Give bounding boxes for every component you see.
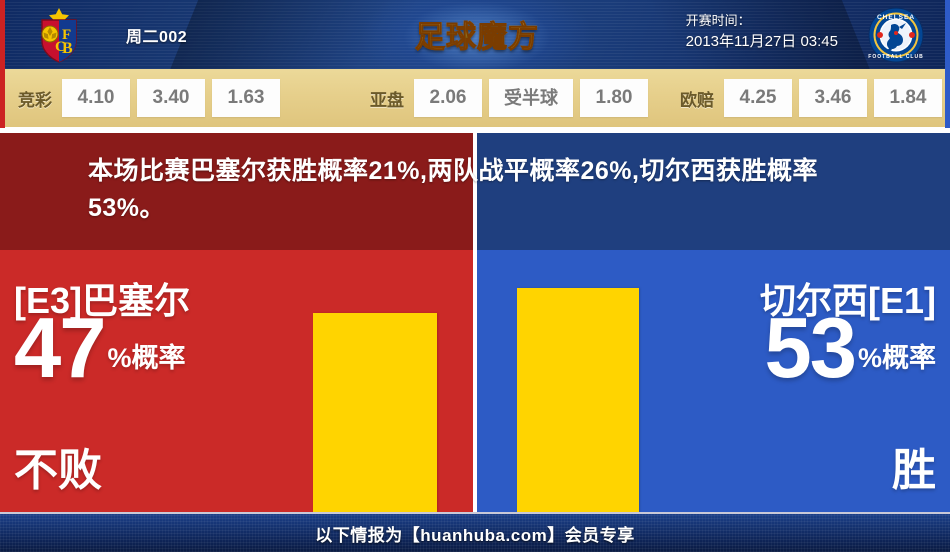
- odds-group-label: 竞彩: [18, 86, 52, 111]
- match-number-label: 周二002: [126, 23, 187, 47]
- svg-text:C: C: [55, 39, 66, 55]
- chart-center-divider: [473, 250, 477, 512]
- odds-group-label: 亚盘: [370, 86, 404, 111]
- header-bar: F B C 周二002 足球魔方 开赛时间： 2013年11月27日 03:45: [0, 0, 950, 69]
- chelsea-fc-crest-icon: CHELSEA FOOTBALL CLUB: [866, 6, 926, 64]
- bar-away-probability: [517, 288, 639, 512]
- svg-text:FOOTBALL CLUB: FOOTBALL CLUB: [868, 54, 923, 60]
- home-percent-value: 47: [14, 310, 105, 388]
- bar-home-probability: [313, 313, 437, 512]
- svg-text:CHELSEA: CHELSEA: [877, 14, 915, 21]
- odds-cell-away-win[interactable]: 1.63: [212, 79, 280, 117]
- kickoff-time: 2013年11月27日 03:45: [686, 31, 838, 53]
- footer-bar: 以下情报为【huanhuba.com】会员专享: [0, 514, 950, 552]
- home-percent-suffix: %概率: [105, 336, 186, 388]
- odds-cell-home-win[interactable]: 4.10: [62, 79, 130, 117]
- fc-basel-crest-icon: F B C: [28, 7, 90, 65]
- away-percent-row: 53 %概率: [646, 310, 936, 388]
- odds-cell-draw[interactable]: 3.40: [137, 79, 205, 117]
- home-team-stats: [E3]巴塞尔 47 %概率 不败: [14, 250, 304, 512]
- probability-banner: 本场比赛巴塞尔获胜概率21%,两队战平概率26%,切尔西获胜概率53%。: [0, 133, 950, 250]
- odds-bar: 竞彩 4.10 3.40 1.63 亚盘 2.06 受半球 1.80 欧赔 4.…: [0, 69, 950, 127]
- footer-membership-notice: 以下情报为【huanhuba.com】会员专享: [0, 514, 950, 552]
- odds-group-asian-handicap: 亚盘 2.06 受半球 1.80: [370, 69, 648, 127]
- odds-cell-handicap-away[interactable]: 1.80: [580, 79, 648, 117]
- probability-chart: [E3]巴塞尔 47 %概率 不败 切尔西[E1] 53 %概率 胜: [0, 250, 950, 512]
- brand-logo: 足球魔方: [402, 8, 552, 60]
- away-percent-value: 53: [764, 310, 855, 388]
- probability-summary-text: 本场比赛巴塞尔获胜概率21%,两队战平概率26%,切尔西获胜概率53%。: [88, 153, 878, 227]
- right-edge-blue-stripe: [945, 0, 950, 128]
- odds-cell-euro-away[interactable]: 1.84: [874, 79, 942, 117]
- away-percent-suffix: %概率: [855, 336, 936, 388]
- away-team-stats: 切尔西[E1] 53 %概率 胜: [646, 250, 936, 512]
- home-outcome-label: 不败: [14, 434, 304, 498]
- odds-cell-handicap-home[interactable]: 2.06: [414, 79, 482, 117]
- left-edge-red-stripe: [0, 0, 5, 128]
- odds-group-european: 欧赔 4.25 3.46 1.84: [680, 69, 942, 127]
- away-outcome-label: 胜: [646, 434, 936, 498]
- odds-group-label: 欧赔: [680, 86, 714, 111]
- odds-cell-euro-home[interactable]: 4.25: [724, 79, 792, 117]
- odds-group-lottery: 竞彩 4.10 3.40 1.63: [18, 69, 280, 127]
- kickoff-label: 开赛时间：: [686, 12, 838, 31]
- odds-cell-euro-draw[interactable]: 3.46: [799, 79, 867, 117]
- home-percent-row: 47 %概率: [14, 310, 304, 388]
- odds-cell-handicap-line[interactable]: 受半球: [489, 79, 573, 117]
- match-prediction-infographic: F B C 周二002 足球魔方 开赛时间： 2013年11月27日 03:45: [0, 0, 950, 552]
- kickoff-block: 开赛时间： 2013年11月27日 03:45: [686, 12, 838, 53]
- brand-logo-text: 足球魔方: [415, 12, 539, 56]
